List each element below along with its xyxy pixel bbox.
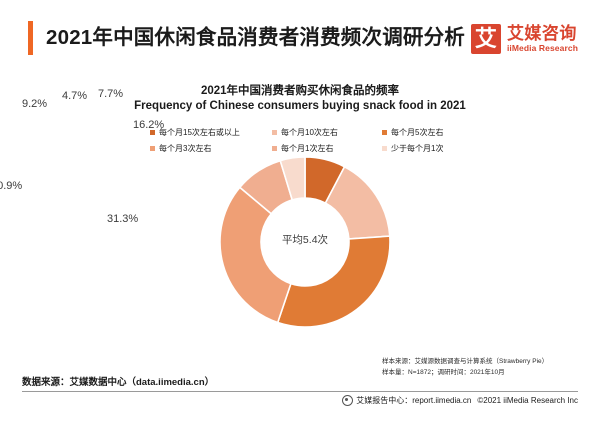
legend-label: 每个月3次左右 xyxy=(159,143,211,154)
report-center-icon xyxy=(342,395,353,406)
donut-chart xyxy=(219,156,391,328)
legend-label: 少于每个月1次 xyxy=(391,143,443,154)
legend-swatch-icon xyxy=(382,130,387,135)
legend-item[interactable]: 每个月10次左右 xyxy=(272,127,382,138)
sample-note: 样本来源：艾媒源数据调查与计算系统（Strawberry Pie） 样本量：N=… xyxy=(382,356,548,378)
report-center-link[interactable]: 艾媒报告中心：report.iimedia.cn xyxy=(356,395,471,406)
legend-row: 每个月3次左右每个月1次左右少于每个月1次 xyxy=(150,140,470,156)
donut-slice[interactable] xyxy=(220,187,291,322)
donut-slice-value: 9.2% xyxy=(22,98,47,110)
legend-label: 每个月5次左右 xyxy=(391,127,443,138)
sample-source-line: 样本来源：艾媒源数据调查与计算系统（Strawberry Pie） xyxy=(382,356,548,367)
data-source-line: 数据来源：艾媒数据中心（data.iimedia.cn） xyxy=(22,374,214,388)
footer-divider xyxy=(22,391,578,392)
donut-slice-value: 4.7% xyxy=(62,90,87,102)
brand-name-cn: 艾媒咨询 xyxy=(507,25,578,43)
legend-label: 每个月15次左右或以上 xyxy=(159,127,240,138)
legend-item[interactable]: 少于每个月1次 xyxy=(382,143,470,154)
legend-item[interactable]: 每个月3次左右 xyxy=(150,143,272,154)
donut-slice[interactable] xyxy=(278,236,390,327)
brand-name-en: iiMedia Research xyxy=(507,43,578,53)
legend-item[interactable]: 每个月5次左右 xyxy=(382,127,470,138)
brand-logo: 艾 艾媒咨询 iiMedia Research xyxy=(471,24,578,54)
chart-legend: 每个月15次左右或以上每个月10次左右每个月5次左右每个月3次左右每个月1次左右… xyxy=(150,124,470,156)
legend-label: 每个月1次左右 xyxy=(281,143,333,154)
sample-size-line: 样本量：N=1872；调研时间：2021年10月 xyxy=(382,367,548,378)
legend-label: 每个月10次左右 xyxy=(281,127,338,138)
page-footer: 样本来源：艾媒源数据调查与计算系统（Strawberry Pie） 样本量：N=… xyxy=(0,353,600,421)
footer-copyright: 艾媒报告中心：report.iimedia.cn ©2021 iiMedia R… xyxy=(342,395,578,406)
chart-title-cn: 2021年中国消费者购买休闲食品的频率 xyxy=(0,82,600,98)
page-header: 2021年中国休闲食品消费者消费频次调研分析 艾 艾媒咨询 iiMedia Re… xyxy=(0,0,600,68)
page-title: 2021年中国休闲食品消费者消费频次调研分析 xyxy=(46,28,465,49)
legend-row: 每个月15次左右或以上每个月10次左右每个月5次左右 xyxy=(150,124,470,140)
chart-panel: 2021年中国消费者购买休闲食品的频率 Frequency of Chinese… xyxy=(0,68,600,353)
donut-slice-value: 31.3% xyxy=(107,213,138,225)
legend-item[interactable]: 每个月1次左右 xyxy=(272,143,382,154)
brand-mark-icon: 艾 xyxy=(471,24,501,54)
title-accent-bar xyxy=(28,21,33,55)
legend-swatch-icon xyxy=(382,146,387,151)
page-title-wrap: 2021年中国休闲食品消费者消费频次调研分析 xyxy=(28,21,465,55)
copyright-text: ©2021 iiMedia Research Inc xyxy=(477,396,578,405)
donut-slice-value: 30.9% xyxy=(0,180,22,192)
legend-item[interactable]: 每个月15次左右或以上 xyxy=(150,127,272,138)
donut-chart-area: 平均5.4次 7.7%16.2%31.3%30.9%9.2%4.7% xyxy=(0,156,600,346)
donut-slice-value: 7.7% xyxy=(98,88,123,100)
legend-swatch-icon xyxy=(272,146,277,151)
brand-text: 艾媒咨询 iiMedia Research xyxy=(507,25,578,53)
donut-slice-value: 16.2% xyxy=(133,119,164,131)
legend-swatch-icon xyxy=(272,130,277,135)
chart-title-en: Frequency of Chinese consumers buying sn… xyxy=(0,100,600,112)
legend-swatch-icon xyxy=(150,146,155,151)
